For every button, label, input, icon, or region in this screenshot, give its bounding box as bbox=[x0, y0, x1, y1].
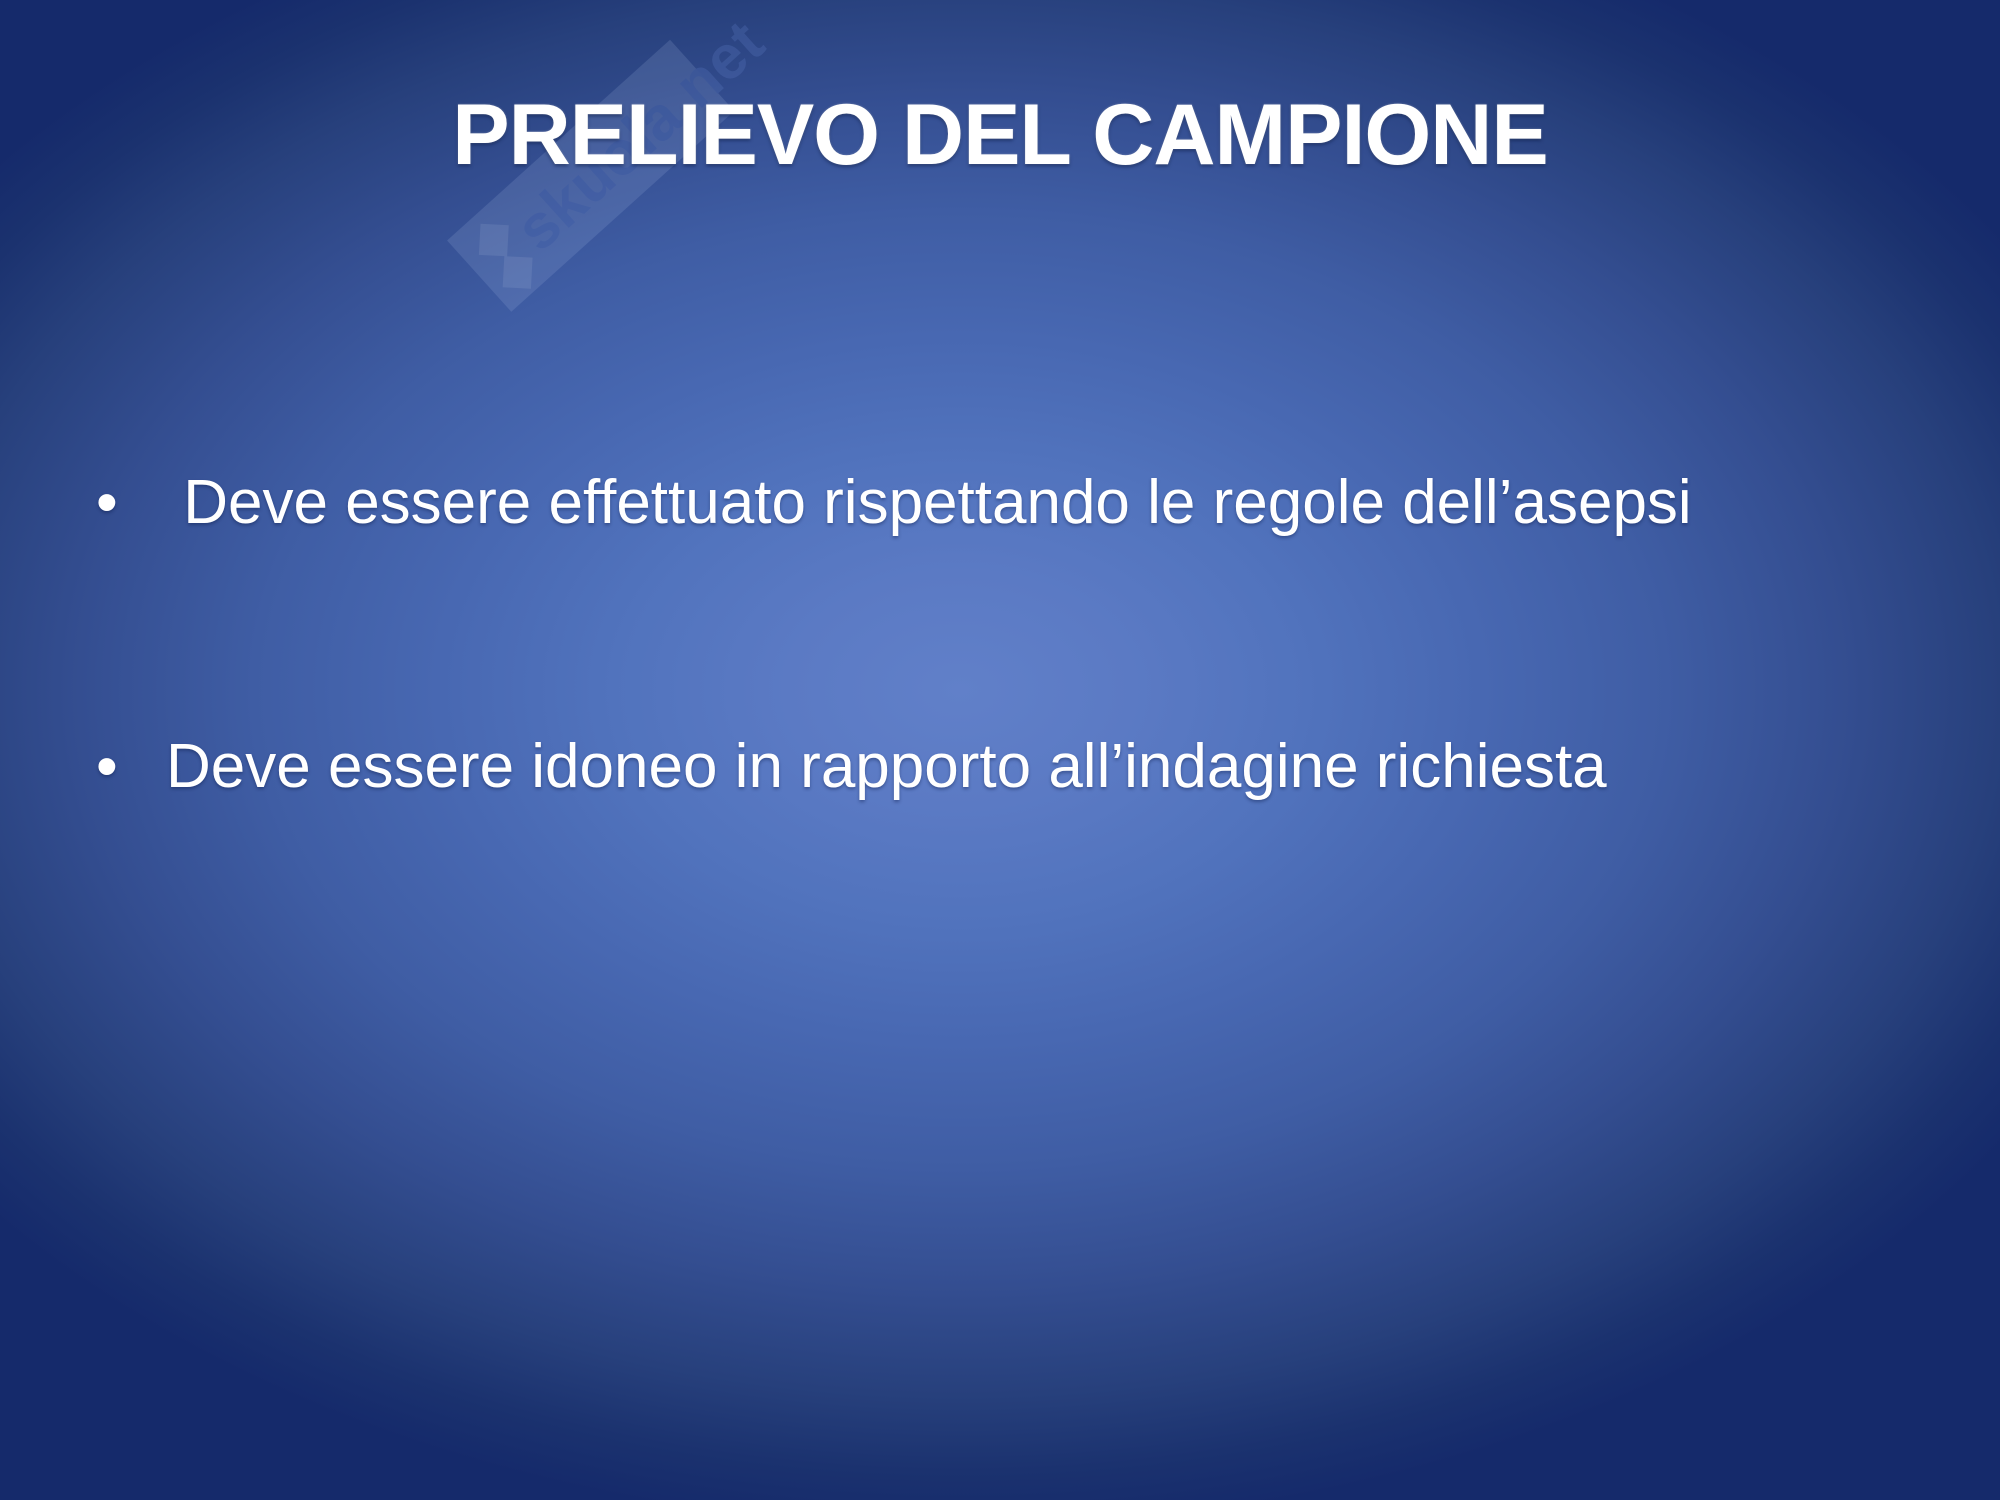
bullet-spacer bbox=[96, 546, 1916, 724]
bullet-item-2: • Deve essere idoneo in rapporto all’ind… bbox=[96, 724, 1916, 810]
bullet-text-1: Deve essere effettuato rispettando le re… bbox=[166, 460, 1916, 546]
presentation-slide: skuola.net PRELIEVO DEL CAMPIONE • Deve … bbox=[0, 0, 2000, 1500]
bullet-marker-icon: • bbox=[96, 724, 166, 810]
watermark-s-mark bbox=[461, 210, 550, 302]
slide-title-text: PRELIEVO DEL CAMPIONE bbox=[452, 88, 1548, 183]
bullet-text-2: Deve essere idoneo in rapporto all’indag… bbox=[166, 724, 1916, 810]
bullet-marker-icon: • bbox=[96, 460, 166, 546]
slide-title: PRELIEVO DEL CAMPIONE bbox=[0, 88, 2000, 183]
slide-body: • Deve essere effettuato rispettando le … bbox=[96, 460, 1916, 809]
bullet-item-1: • Deve essere effettuato rispettando le … bbox=[96, 460, 1916, 546]
